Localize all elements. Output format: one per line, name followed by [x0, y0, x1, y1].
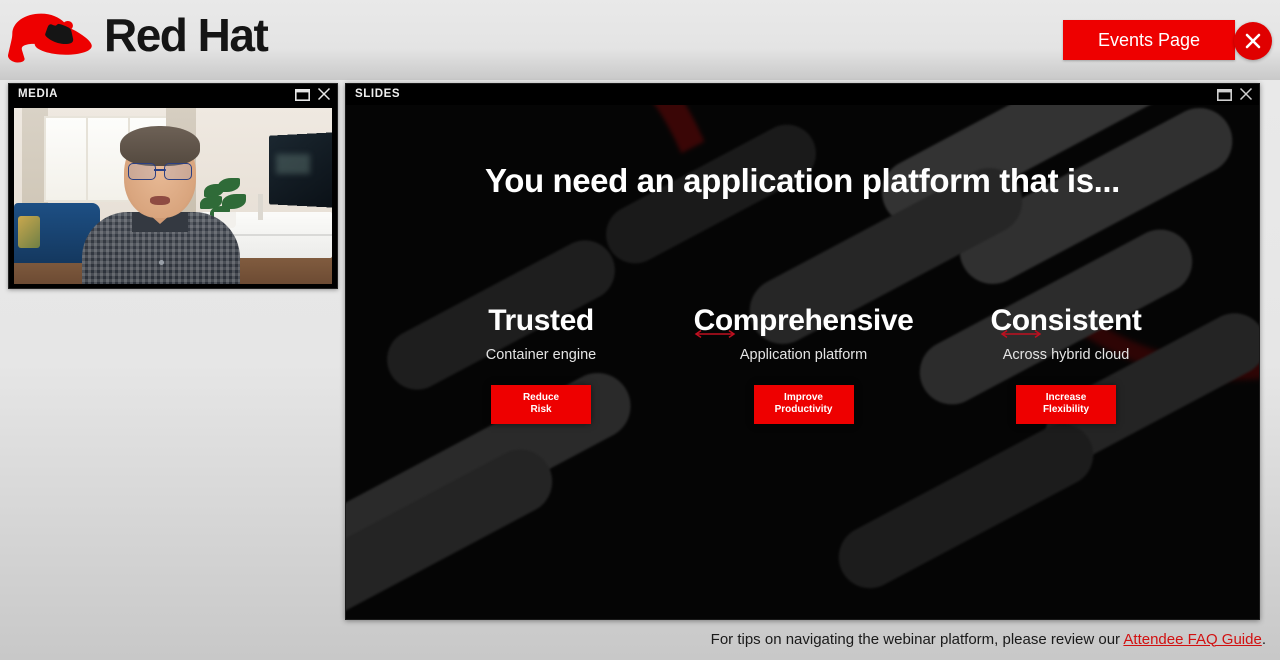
badge-line-2: Productivity	[775, 404, 833, 417]
events-page-button[interactable]: Events Page	[1063, 20, 1235, 60]
slide-column-trusted: Trusted Container engine Reduce Risk	[416, 305, 666, 424]
slides-panel-title: SLIDES	[355, 88, 400, 100]
slide-column-comprehensive: Comprehensive Application platform Impro…	[679, 305, 929, 424]
column-heading: Trusted	[416, 305, 666, 337]
badge-line-2: Flexibility	[1043, 404, 1089, 417]
slide-column-consistent: Consistent Across hybrid cloud Increase …	[941, 305, 1191, 424]
column-heading: Consistent	[941, 305, 1191, 337]
benefit-badge-increase-flexibility: Increase Flexibility	[1016, 385, 1116, 424]
close-window-button[interactable]	[1234, 22, 1272, 60]
slide-stage: You need an application platform that is…	[346, 105, 1259, 619]
webinar-console: Red Hat Events Page MEDIA	[0, 0, 1280, 660]
slides-panel: SLIDES	[345, 83, 1260, 620]
benefit-badge-improve-productivity: Improve Productivity	[754, 385, 854, 424]
red-hat-fedora-logo-icon	[8, 6, 94, 68]
badge-line-1: Reduce	[523, 392, 559, 405]
page-header: Red Hat Events Page	[0, 0, 1280, 80]
slide-headline: You need an application platform that is…	[346, 162, 1259, 200]
slide-columns: Trusted Container engine Reduce Risk Com…	[416, 305, 1191, 424]
media-panel-titlebar[interactable]: MEDIA	[9, 84, 337, 105]
media-panel: MEDIA	[8, 83, 338, 289]
slides-panel-controls	[1217, 87, 1253, 106]
slides-panel-titlebar[interactable]: SLIDES	[346, 84, 1259, 105]
restore-window-icon[interactable]	[1217, 88, 1232, 106]
brand-name: Red Hat	[104, 12, 267, 62]
double-arrow-connector-icon	[693, 326, 737, 336]
footer-text: For tips on navigating the webinar platf…	[711, 631, 1266, 648]
column-subtitle: Container engine	[416, 347, 666, 363]
footer-text-after: .	[1262, 631, 1266, 648]
footer: For tips on navigating the webinar platf…	[0, 618, 1280, 660]
close-x-icon	[1242, 30, 1264, 52]
badge-line-1: Increase	[1046, 392, 1087, 405]
badge-line-1: Improve	[784, 392, 823, 405]
presenter-video[interactable]	[14, 108, 332, 284]
media-panel-title: MEDIA	[18, 88, 58, 100]
column-subtitle: Across hybrid cloud	[941, 347, 1191, 363]
badge-line-2: Risk	[530, 404, 551, 417]
restore-window-icon[interactable]	[295, 88, 310, 106]
attendee-faq-guide-link[interactable]: Attendee FAQ Guide	[1123, 631, 1261, 648]
close-icon[interactable]	[317, 87, 331, 106]
media-panel-controls	[295, 87, 331, 106]
column-subtitle: Application platform	[679, 347, 929, 363]
brand: Red Hat	[8, 6, 267, 68]
footer-text-before: For tips on navigating the webinar platf…	[711, 631, 1124, 648]
close-icon[interactable]	[1239, 87, 1253, 106]
video-scene	[14, 108, 332, 284]
benefit-badge-reduce-risk: Reduce Risk	[491, 385, 591, 424]
double-arrow-connector-icon	[999, 326, 1043, 336]
